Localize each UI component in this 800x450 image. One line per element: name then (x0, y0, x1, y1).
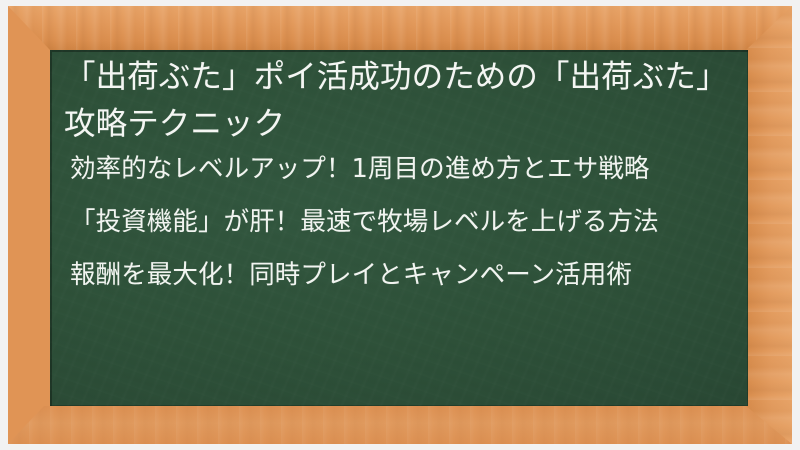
frame-plank-top (8, 6, 792, 50)
chalkboard-content: 「出荷ぶた」ポイ活成功のための「出荷ぶた」攻略テクニック 効率的なレベルアップ！… (50, 50, 748, 406)
board-item-3: 報酬を最大化！同時プレイとキャンペーン活用術 (50, 256, 748, 294)
board-item-2: 「投資機能」が肝！最速で牧場レベルを上げる方法 (50, 203, 748, 241)
board-item-list: 効率的なレベルアップ！1周目の進め方とエサ戦略 「投資機能」が肝！最速で牧場レベ… (50, 150, 748, 294)
frame-plank-left (8, 6, 52, 444)
slide-canvas: 「出荷ぶた」ポイ活成功のための「出荷ぶた」攻略テクニック 効率的なレベルアップ！… (0, 0, 800, 450)
board-title: 「出荷ぶた」ポイ活成功のための「出荷ぶた」攻略テクニック (64, 54, 744, 148)
wood-frame: 「出荷ぶた」ポイ活成功のための「出荷ぶた」攻略テクニック 効率的なレベルアップ！… (8, 6, 792, 444)
frame-plank-right (746, 6, 792, 444)
frame-plank-bottom (8, 406, 792, 444)
chalkboard-surface: 「出荷ぶた」ポイ活成功のための「出荷ぶた」攻略テクニック 効率的なレベルアップ！… (50, 50, 748, 406)
board-item-1: 効率的なレベルアップ！1周目の進め方とエサ戦略 (50, 150, 748, 188)
